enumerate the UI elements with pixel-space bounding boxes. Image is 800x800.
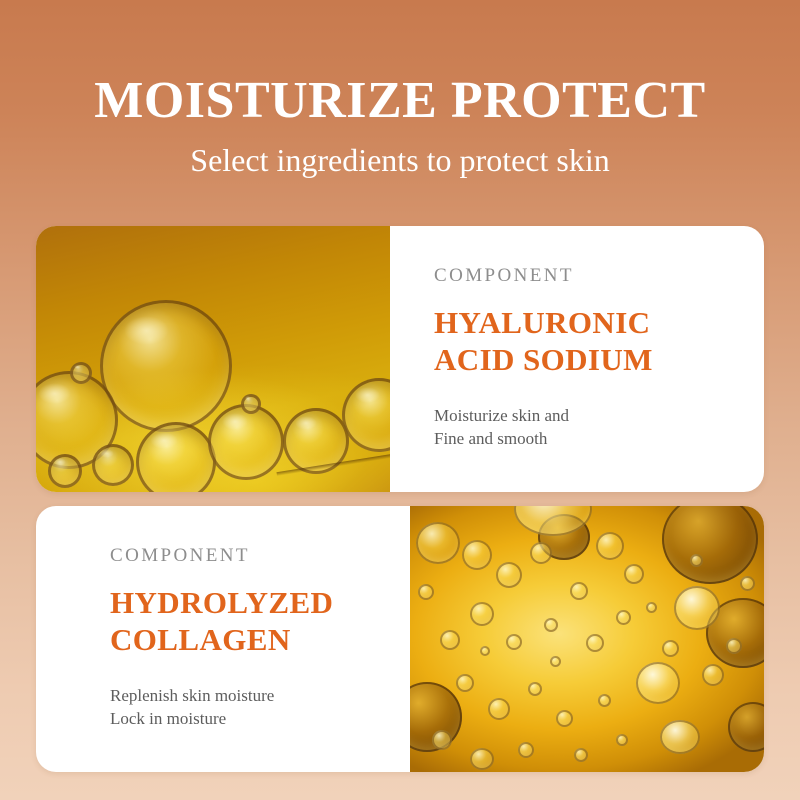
description-line-2: Lock in moisture	[110, 707, 400, 730]
oil-bubble	[432, 730, 452, 750]
oil-bubble	[556, 710, 573, 727]
oil-bubble	[530, 542, 552, 564]
oil-bubble	[440, 630, 460, 650]
oil-bubble	[662, 506, 758, 584]
oil-bubble	[616, 734, 628, 746]
component-label: COMPONENT	[434, 264, 754, 288]
oil-bubble	[570, 582, 588, 600]
ingredient-name: HYDROLYZED COLLAGEN	[110, 584, 400, 658]
ingredient-card-collagen[interactable]: COMPONENT HYDROLYZED COLLAGEN Replenish …	[36, 506, 764, 772]
ingredient-description: Replenish skin moisture Lock in moisture	[110, 684, 400, 730]
oil-bubble	[136, 422, 216, 492]
oil-bubble	[518, 742, 534, 758]
oil-bubble	[70, 362, 92, 384]
ingredient-name: HYALURONIC ACID SODIUM	[434, 304, 754, 378]
oil-bubble	[624, 564, 644, 584]
page-subtitle: Select ingredients to protect skin	[0, 130, 800, 180]
oil-bubble	[598, 694, 611, 707]
oil-bubble	[636, 662, 680, 704]
oil-bubble	[662, 640, 679, 657]
oil-bubble	[480, 646, 490, 656]
oil-bubble	[728, 702, 764, 752]
page-title: MOISTURIZE PROTECT	[0, 0, 800, 130]
oil-bubble	[92, 444, 134, 486]
oil-bubble	[646, 602, 657, 613]
ingredient-photo-bubble-field	[410, 506, 764, 772]
oil-bubble	[726, 638, 742, 654]
oil-bubble	[506, 634, 522, 650]
ingredient-text-block: COMPONENT HYDROLYZED COLLAGEN Replenish …	[36, 506, 410, 772]
oil-bubble	[616, 610, 631, 625]
poster-header: MOISTURIZE PROTECT Select ingredients to…	[0, 0, 800, 180]
oil-bubble	[470, 748, 494, 770]
oil-bubble	[100, 300, 232, 432]
oil-bubble	[208, 404, 284, 480]
oil-bubble	[241, 394, 261, 414]
oil-bubble	[48, 454, 82, 488]
oil-bubble	[690, 554, 703, 567]
ingredient-text-block: COMPONENT HYALURONIC ACID SODIUM Moistur…	[390, 226, 764, 492]
description-line-2: Fine and smooth	[434, 427, 754, 450]
ingredient-photo-oil-bubbles	[36, 226, 390, 492]
oil-bubble	[586, 634, 604, 652]
ingredient-card-hyaluronic[interactable]: COMPONENT HYALURONIC ACID SODIUM Moistur…	[36, 226, 764, 492]
oil-bubble	[416, 522, 460, 564]
oil-bubble	[488, 698, 510, 720]
oil-bubble	[660, 720, 700, 754]
component-label: COMPONENT	[110, 544, 400, 568]
description-line-1: Replenish skin moisture	[110, 684, 400, 707]
oil-bubble	[740, 576, 755, 591]
ingredient-name-line-2: COLLAGEN	[110, 621, 400, 658]
oil-bubble	[674, 586, 720, 630]
oil-bubble	[544, 618, 558, 632]
oil-bubble	[702, 664, 724, 686]
oil-bubble	[550, 656, 561, 667]
oil-bubble	[456, 674, 474, 692]
description-line-1: Moisturize skin and	[434, 404, 754, 427]
bubble-field-backdrop	[410, 506, 764, 772]
oil-bubble	[418, 584, 434, 600]
oil-bubble	[596, 532, 624, 560]
ingredient-name-line-2: ACID SODIUM	[434, 341, 754, 378]
ingredient-name-line-1: HYALURONIC	[434, 304, 754, 341]
product-ingredient-poster: MOISTURIZE PROTECT Select ingredients to…	[0, 0, 800, 800]
oil-bubble	[470, 602, 494, 626]
ingredient-description: Moisturize skin and Fine and smooth	[434, 404, 754, 450]
oil-bubble	[528, 682, 542, 696]
ingredient-name-line-1: HYDROLYZED	[110, 584, 400, 621]
oil-bubble	[574, 748, 588, 762]
oil-bubble	[496, 562, 522, 588]
oil-gradient-backdrop	[36, 226, 390, 492]
oil-bubble	[462, 540, 492, 570]
